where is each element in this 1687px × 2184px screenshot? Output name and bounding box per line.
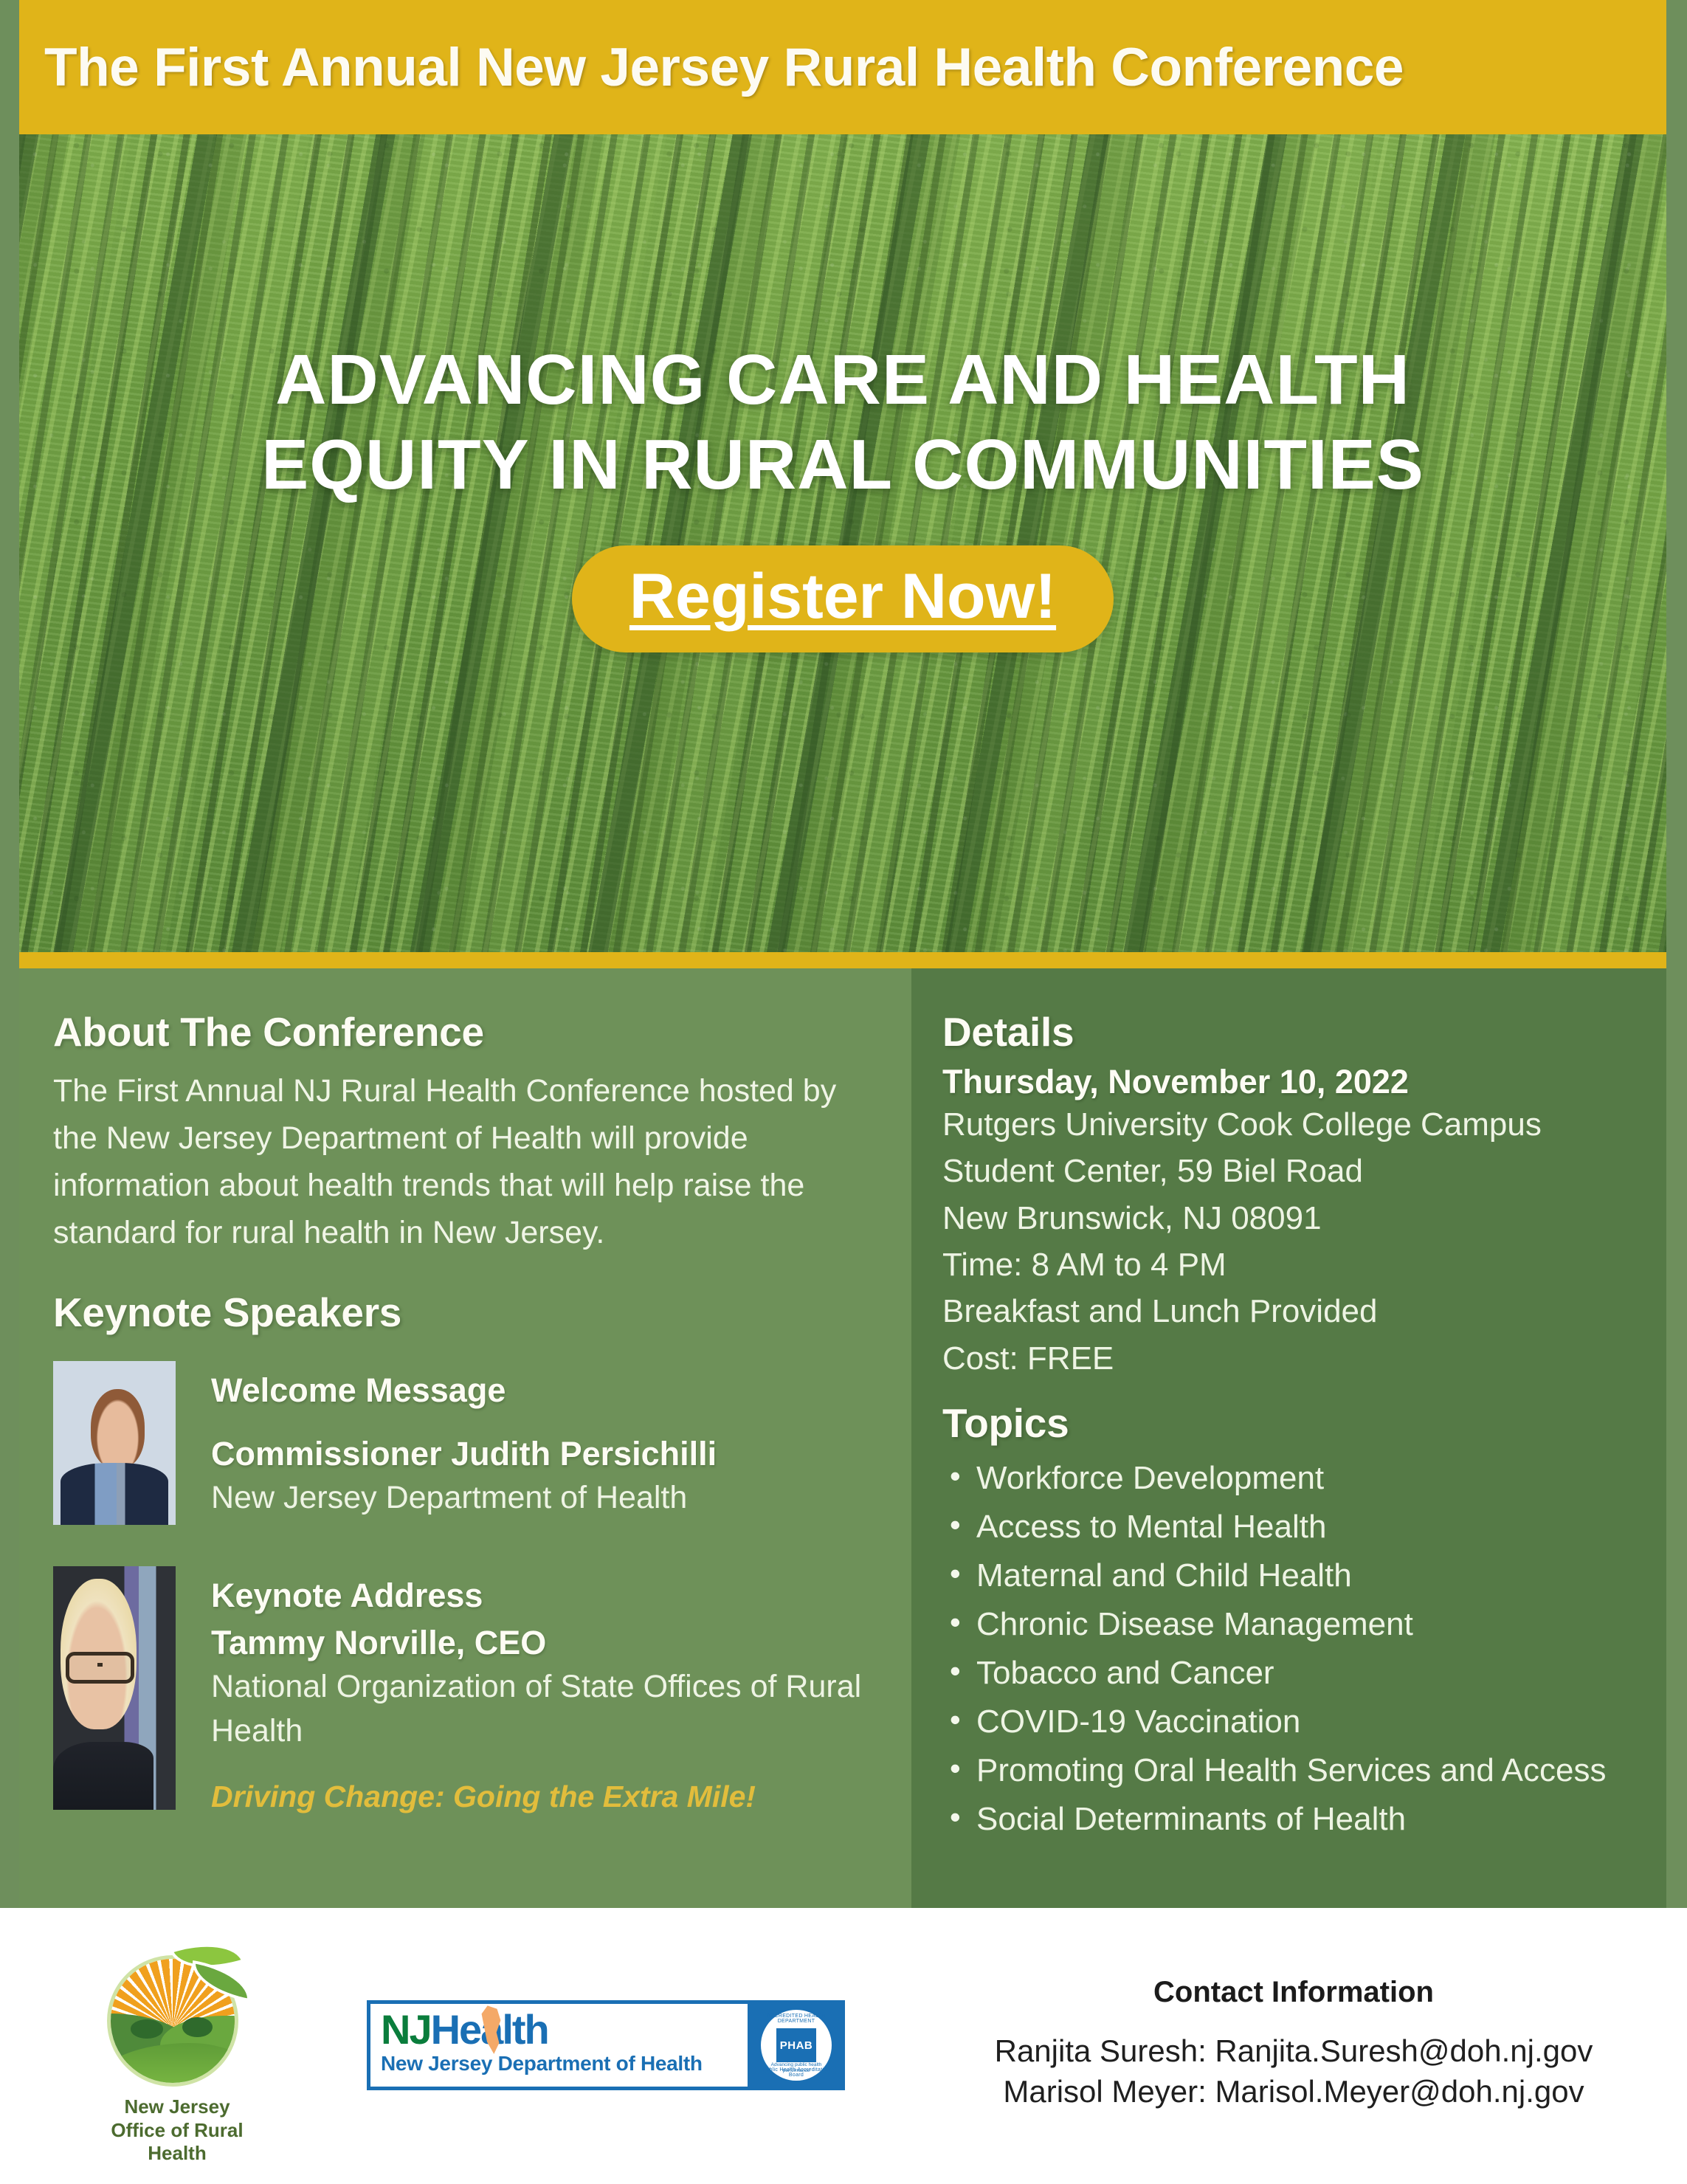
hero-banner: ADVANCING CARE AND HEALTH EQUITY IN RURA… (19, 134, 1666, 952)
details-line: Time: 8 AM to 4 PM (942, 1241, 1637, 1288)
hero-content: ADVANCING CARE AND HEALTH EQUITY IN RURA… (19, 134, 1666, 952)
details-date: Thursday, November 10, 2022 (942, 1063, 1637, 1101)
tree-icon (131, 2019, 163, 2038)
details-heading: Details (942, 1008, 1637, 1055)
logo-caption-line-2: Office of Rural Health (81, 2119, 273, 2166)
rural-health-sun-field-icon (101, 1939, 253, 2091)
speaker-name: Tammy Norville, CEO (211, 1624, 874, 1662)
details-line: Rutgers University Cook College Campus (942, 1101, 1637, 1148)
contact-email-ranjita[interactable]: Ranjita Suresh: Ranjita.Suresh@doh.nj.go… (921, 2031, 1666, 2072)
speaker-info: Keynote Address Tammy Norville, CEO Nati… (176, 1566, 874, 1814)
right-column: Details Thursday, November 10, 2022 Rutg… (911, 968, 1666, 1908)
contact-heading: Contact Information (921, 1976, 1666, 2009)
speaker-tagline: Driving Change: Going the Extra Mile! (211, 1780, 874, 1814)
eyeglasses-icon (66, 1652, 134, 1684)
seal-ring-top-text: ACCREDITED HEALTH DEPARTMENT (761, 2014, 832, 2024)
speaker-role: Welcome Message (211, 1371, 717, 1410)
header-bar: The First Annual New Jersey Rural Health… (19, 0, 1666, 134)
nj-office-of-rural-health-logo: New Jersey Office of Rural Health (81, 1939, 273, 2166)
list-item: Workforce Development (942, 1454, 1637, 1503)
list-item: Tobacco and Cancer (942, 1649, 1637, 1698)
speaker-card: Welcome Message Commissioner Judith Pers… (53, 1361, 874, 1525)
left-frame-band (0, 0, 19, 1908)
page-title: The First Annual New Jersey Rural Health… (19, 37, 1404, 98)
hero-title-line-1: ADVANCING CARE AND HEALTH (275, 337, 1410, 422)
list-item: Promoting Oral Health Services and Acces… (942, 1746, 1637, 1795)
list-item: Chronic Disease Management (942, 1600, 1637, 1649)
speaker-org: New Jersey Department of Health (211, 1476, 717, 1520)
hero-title-line-2: EQUITY IN RURAL COMMUNITIES (261, 422, 1424, 507)
list-item: Social Determinants of Health (942, 1795, 1637, 1844)
left-column: About The Conference The First Annual NJ… (19, 968, 911, 1908)
nj-department-of-health-logo: NJHealth New Jersey Department of Health… (367, 2000, 845, 2090)
register-now-button[interactable]: Register Now! (572, 545, 1114, 652)
contact-information: Contact Information Ranjita Suresh: Ranj… (921, 1976, 1666, 2112)
njhealth-wordmark: NJHealth (381, 2009, 748, 2050)
topics-heading: Topics (942, 1399, 1637, 1447)
keynote-heading: Keynote Speakers (53, 1289, 874, 1336)
njhealth-subtitle: New Jersey Department of Health (381, 2052, 748, 2076)
speaker-org: National Organization of State Offices o… (211, 1665, 874, 1753)
details-line: Student Center, 59 Biel Road (942, 1148, 1637, 1194)
gold-divider (19, 952, 1666, 968)
logo-caption-line-1: New Jersey (81, 2095, 273, 2119)
speaker-name: Commissioner Judith Persichilli (211, 1435, 717, 1473)
nj-text: NJ (381, 2006, 431, 2053)
details-line: Cost: FREE (942, 1335, 1637, 1382)
contact-lines: Ranjita Suresh: Ranjita.Suresh@doh.nj.go… (921, 2031, 1666, 2112)
topics-list: Workforce Development Access to Mental H… (942, 1454, 1637, 1844)
details-line: Breakfast and Lunch Provided (942, 1288, 1637, 1334)
speaker-portrait-persichilli (53, 1361, 176, 1525)
speaker-card: Keynote Address Tammy Norville, CEO Nati… (53, 1566, 874, 1814)
speaker-portrait-norville (53, 1566, 176, 1810)
right-frame-band (1666, 0, 1687, 1908)
about-heading: About The Conference (53, 1008, 874, 1055)
speaker-info: Welcome Message Commissioner Judith Pers… (176, 1361, 717, 1525)
speaker-role: Keynote Address (211, 1577, 874, 1615)
tree-icon (182, 2017, 212, 2037)
logo-caption: New Jersey Office of Rural Health (81, 2095, 273, 2166)
list-item: COVID-19 Vaccination (942, 1698, 1637, 1746)
contact-email-marisol[interactable]: Marisol Meyer: Marisol.Meyer@doh.nj.gov (921, 2072, 1666, 2112)
footer: New Jersey Office of Rural Health NJHeal… (0, 1908, 1687, 2184)
phab-accreditation-seal: ACCREDITED HEALTH DEPARTMENT PHAB Advanc… (751, 2004, 841, 2087)
body-columns: About The Conference The First Annual NJ… (19, 968, 1666, 1908)
list-item: Access to Mental Health (942, 1503, 1637, 1551)
seal-ring-bottom-text: Public Health Accreditation Board (761, 2067, 832, 2078)
list-item: Maternal and Child Health (942, 1551, 1637, 1600)
register-now-label: Register Now! (629, 561, 1056, 632)
conference-flyer: The First Annual New Jersey Rural Health… (0, 0, 1687, 2184)
phab-label: PHAB (776, 2028, 816, 2062)
njhealth-wordmark-block: NJHealth New Jersey Department of Health (370, 2004, 751, 2087)
details-line: New Brunswick, NJ 08091 (942, 1195, 1637, 1241)
about-body: The First Annual NJ Rural Health Confere… (53, 1067, 874, 1256)
seal-disc: ACCREDITED HEALTH DEPARTMENT PHAB Advanc… (761, 2010, 832, 2081)
